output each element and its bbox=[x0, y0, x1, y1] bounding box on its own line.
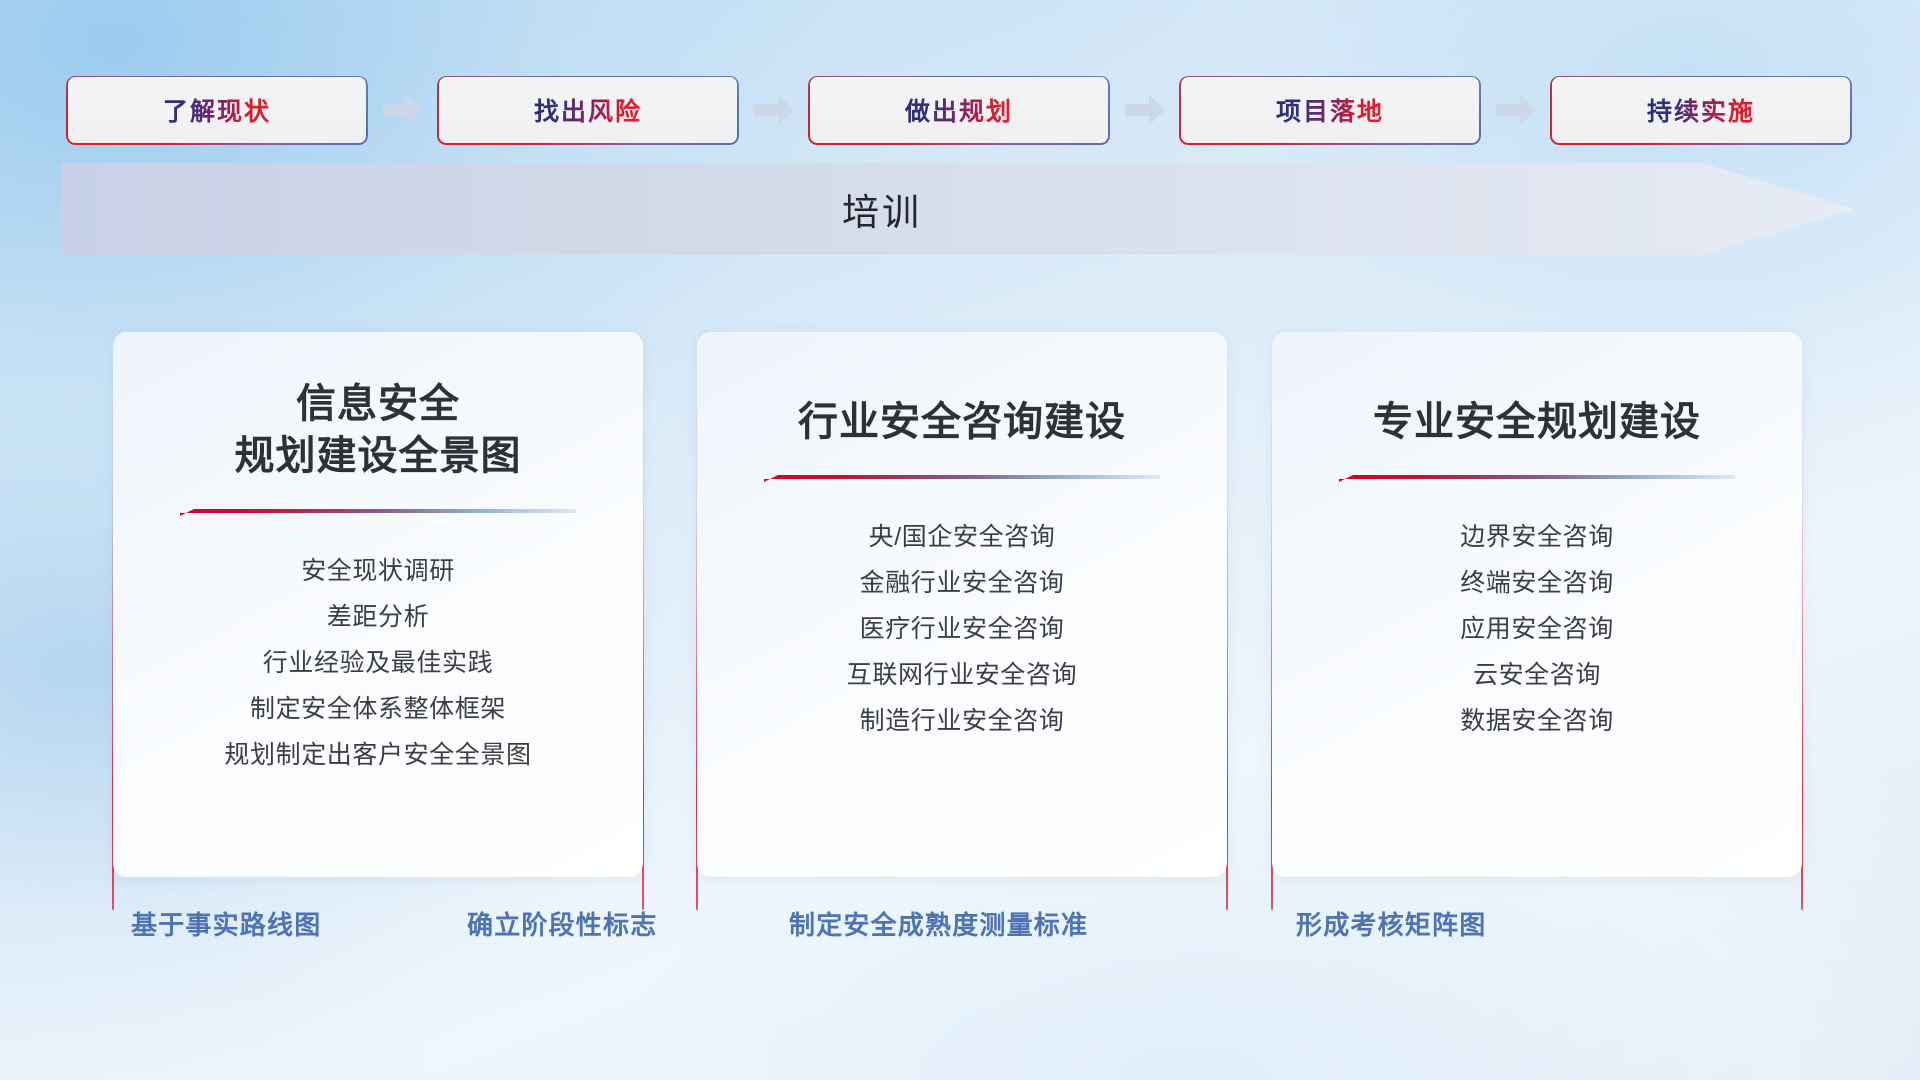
step-box-3-label: 做出规划 bbox=[905, 92, 1013, 128]
card-title: 行业安全咨询建设 bbox=[798, 396, 1126, 448]
card-divider bbox=[1339, 474, 1735, 484]
step-box-2-label: 找出风险 bbox=[534, 92, 642, 128]
step-arrow-1 bbox=[368, 90, 437, 130]
step-arrow-3 bbox=[1110, 90, 1179, 130]
step-box-1-label: 了解现状 bbox=[163, 92, 271, 128]
card-divider bbox=[180, 508, 576, 518]
step-box-3[interactable]: 做出规划 bbox=[808, 76, 1110, 145]
card-list-item: 行业经验及最佳实践 bbox=[263, 647, 493, 680]
card-professional-security-planning[interactable]: 专业安全规划建设 bbox=[1272, 332, 1802, 877]
card-list-item: 云安全咨询 bbox=[1473, 659, 1601, 692]
footnote-roadmap: 基于事实路线图 bbox=[131, 905, 321, 942]
card-list-item: 医疗行业安全咨询 bbox=[860, 613, 1065, 646]
step-box-4[interactable]: 项目落地 bbox=[1179, 76, 1481, 145]
card-body: 行业安全咨询建设 bbox=[697, 332, 1227, 877]
card-body: 专业安全规划建设 bbox=[1272, 332, 1802, 877]
step-box-2-inner: 找出风险 bbox=[439, 77, 738, 143]
card-list-item: 应用安全咨询 bbox=[1460, 613, 1614, 646]
footnote-row: 基于事实路线图 确立阶段性标志 制定安全成熟度测量标准 形成考核矩阵图 bbox=[0, 905, 1920, 955]
step-box-5[interactable]: 持续实施 bbox=[1550, 76, 1852, 145]
process-step-row: 了解现状 找出风险 做出规划 bbox=[66, 75, 1854, 145]
card-row: 信息安全 规划建设全景图 bbox=[0, 332, 1920, 877]
footnote-matrix: 形成考核矩阵图 bbox=[1296, 905, 1486, 942]
card-list-item: 央/国企安全咨询 bbox=[869, 521, 1056, 554]
card-list-item: 边界安全咨询 bbox=[1460, 521, 1614, 554]
footnote-milestone: 确立阶段性标志 bbox=[467, 905, 657, 942]
card-industry-security-consulting[interactable]: 行业安全咨询建设 bbox=[697, 332, 1227, 877]
card-list-item: 规划制定出客户安全全景图 bbox=[224, 739, 531, 772]
card-item-list: 边界安全咨询 终端安全咨询 应用安全咨询 云安全咨询 数据安全咨询 bbox=[1302, 521, 1772, 738]
step-box-5-label: 持续实施 bbox=[1647, 92, 1755, 128]
step-box-5-inner: 持续实施 bbox=[1552, 77, 1851, 143]
step-box-3-inner: 做出规划 bbox=[810, 77, 1109, 143]
card-list-item: 制定安全体系整体框架 bbox=[250, 693, 506, 726]
card-information-security-blueprint[interactable]: 信息安全 规划建设全景图 bbox=[113, 332, 643, 877]
card-list-item: 差距分析 bbox=[327, 601, 429, 634]
training-banner: 培训 bbox=[62, 163, 1855, 255]
footnote-maturity: 制定安全成熟度测量标准 bbox=[789, 905, 1088, 942]
training-banner-label: 培训 bbox=[62, 163, 1702, 255]
slide-canvas: 了解现状 找出风险 做出规划 bbox=[0, 0, 1920, 1080]
step-box-2[interactable]: 找出风险 bbox=[437, 76, 739, 145]
step-box-1[interactable]: 了解现状 bbox=[66, 76, 368, 145]
step-box-1-inner: 了解现状 bbox=[68, 77, 367, 143]
card-title: 专业安全规划建设 bbox=[1373, 396, 1701, 448]
card-divider bbox=[764, 474, 1160, 484]
step-box-4-inner: 项目落地 bbox=[1181, 77, 1480, 143]
card-list-item: 数据安全咨询 bbox=[1460, 705, 1614, 738]
card-list-item: 安全现状调研 bbox=[301, 555, 455, 588]
card-list-item: 互联网行业安全咨询 bbox=[847, 659, 1077, 692]
step-box-4-label: 项目落地 bbox=[1276, 92, 1384, 128]
card-item-list: 央/国企安全咨询 金融行业安全咨询 医疗行业安全咨询 互联网行业安全咨询 制造行… bbox=[727, 521, 1197, 738]
card-list-item: 金融行业安全咨询 bbox=[860, 567, 1065, 600]
card-item-list: 安全现状调研 差距分析 行业经验及最佳实践 制定安全体系整体框架 规划制定出客户… bbox=[143, 555, 613, 772]
card-title: 信息安全 规划建设全景图 bbox=[235, 378, 522, 482]
card-list-item: 制造行业安全咨询 bbox=[860, 705, 1065, 738]
card-list-item: 终端安全咨询 bbox=[1460, 567, 1614, 600]
step-arrow-4 bbox=[1481, 90, 1550, 130]
step-arrow-2 bbox=[739, 90, 808, 130]
card-body: 信息安全 规划建设全景图 bbox=[113, 332, 643, 877]
